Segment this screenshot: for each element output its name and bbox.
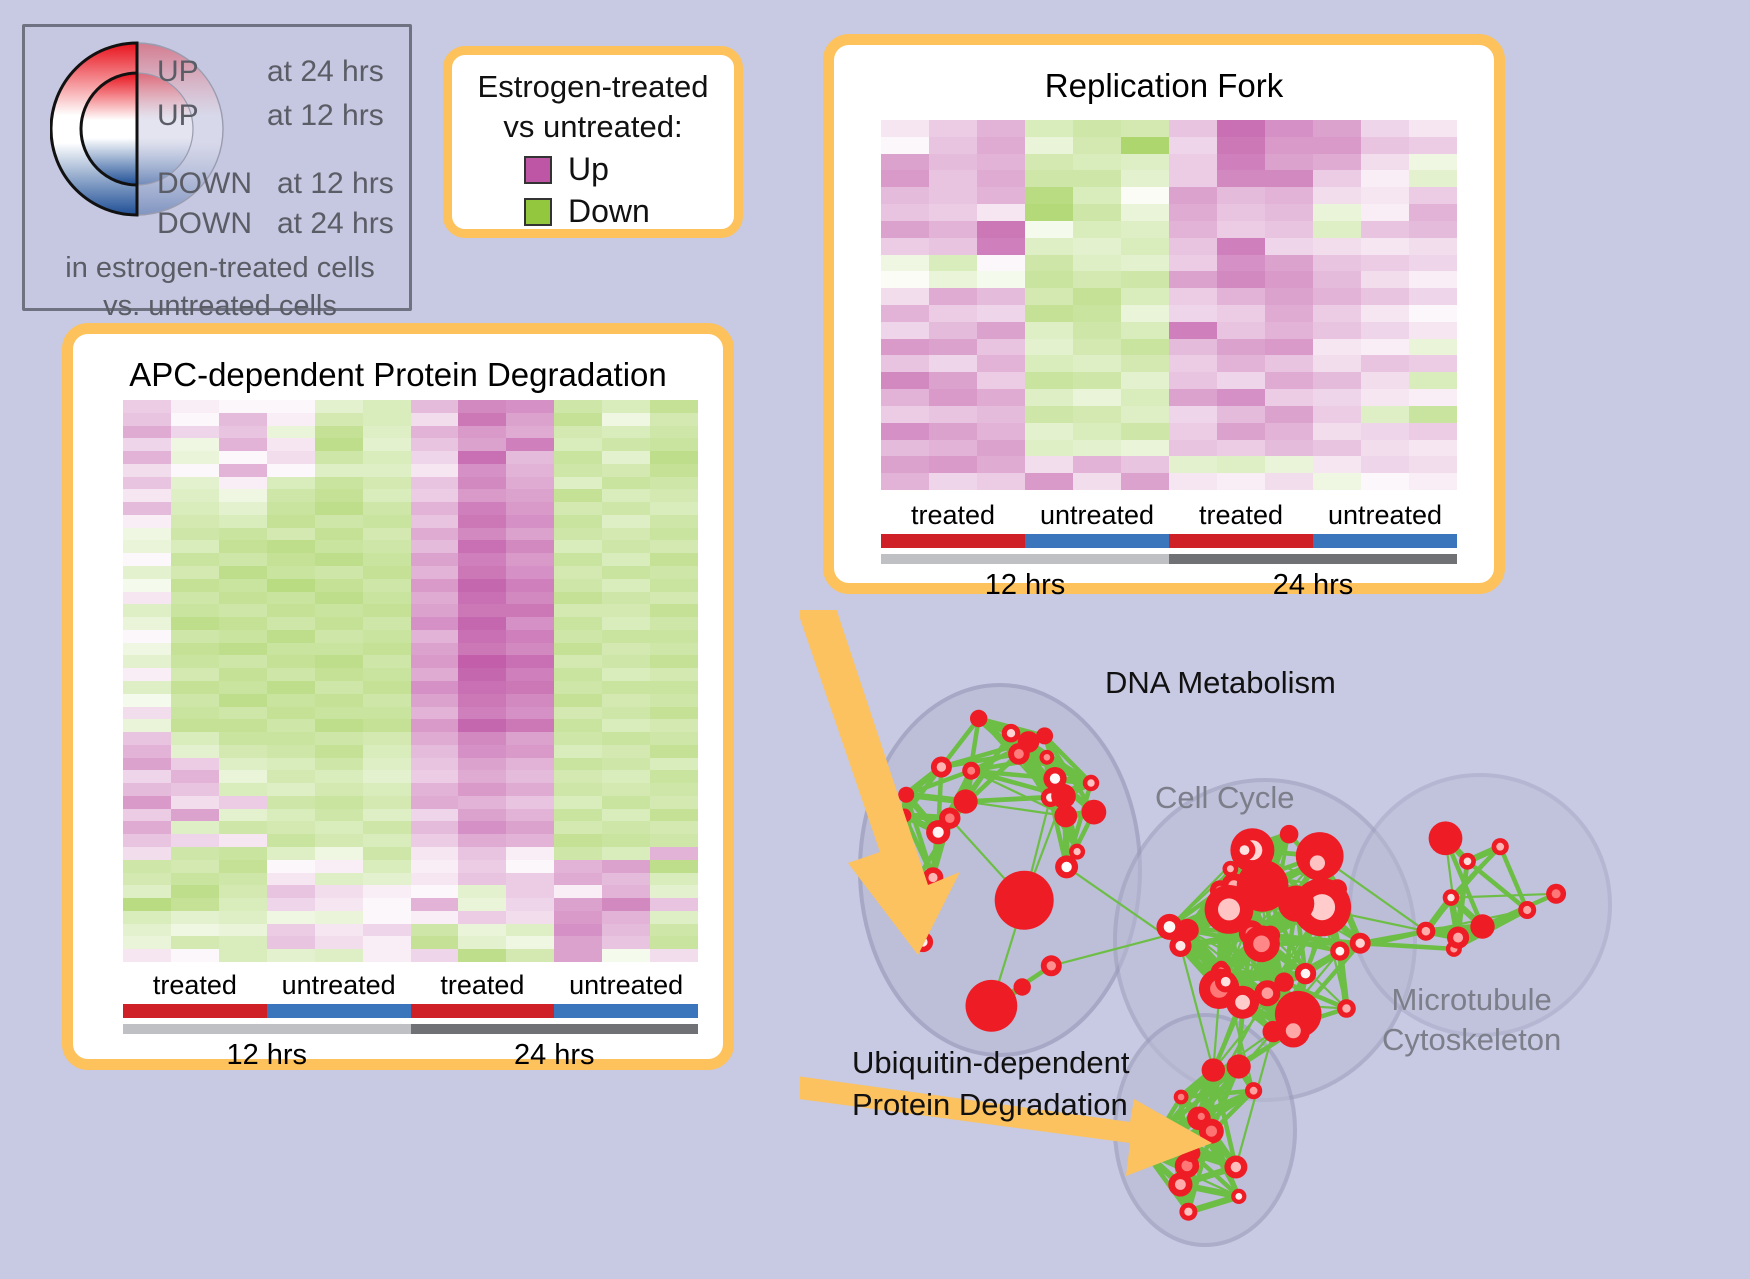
heatmap-cell [363, 528, 411, 541]
heatmap-cell [1121, 271, 1169, 288]
network-node[interactable] [1176, 919, 1199, 942]
heatmap-cell [1217, 389, 1265, 406]
sample-group-label: treated [123, 970, 267, 1001]
heatmap-cell [219, 834, 267, 847]
heatmap-cell [977, 372, 1025, 389]
heatmap-cell [123, 949, 171, 962]
heatmap-cell [1073, 406, 1121, 423]
network-node[interactable] [1008, 743, 1030, 765]
heatmap-cell [1409, 238, 1457, 255]
heatmap-cell [1313, 255, 1361, 272]
estrogen-legend-title-line1: Estrogen-treated [452, 67, 734, 107]
heatmap-cell [267, 477, 315, 490]
replication-fork-time-bar [881, 554, 1457, 564]
heatmap-cell [1409, 339, 1457, 356]
heatmap-cell [1409, 440, 1457, 457]
heatmap-cell [1313, 456, 1361, 473]
network-node[interactable] [1459, 853, 1476, 870]
heatmap-cell [506, 438, 554, 451]
apc-time-bar [123, 1024, 698, 1034]
heatmap-cell [1265, 238, 1313, 255]
heatmap-cell [363, 592, 411, 605]
replication-fork-time-labels: 12 hrs24 hrs [881, 569, 1457, 602]
heatmap-cell [1217, 204, 1265, 221]
heatmap-cell [171, 464, 219, 477]
heatmap-cell [267, 707, 315, 720]
heatmap-cell [1265, 221, 1313, 238]
heatmap-cell [1313, 137, 1361, 154]
heatmap-cell [1169, 423, 1217, 440]
network-node[interactable] [995, 871, 1054, 930]
heatmap-cell [171, 707, 219, 720]
heatmap-cell [881, 137, 929, 154]
heatmap-cell [363, 451, 411, 464]
heatmap-cell [1073, 170, 1121, 187]
estrogen-legend-box: Estrogen-treated vs untreated: Up Down [443, 46, 743, 238]
heatmap-cell [411, 860, 459, 873]
network-node[interactable] [1300, 846, 1334, 880]
heatmap-cell [650, 643, 698, 656]
time-bar-segment [1169, 554, 1457, 564]
heatmap-cell [219, 873, 267, 886]
heatmap-cell [602, 655, 650, 668]
heatmap-cell [363, 847, 411, 860]
heatmap-cell [411, 438, 459, 451]
heatmap-cell [171, 655, 219, 668]
network-node[interactable] [1215, 971, 1236, 992]
heatmap-cell [315, 898, 363, 911]
network-node[interactable] [1168, 1172, 1192, 1196]
heatmap-cell [363, 770, 411, 783]
heatmap-cell [1217, 238, 1265, 255]
network-node[interactable] [966, 980, 1018, 1032]
heatmap-cell [554, 924, 602, 937]
heatmap-cell [929, 372, 977, 389]
heatmap-cell [123, 655, 171, 668]
condition-bar-segment [411, 1004, 555, 1018]
heatmap-cell [1313, 423, 1361, 440]
heatmap-cell [171, 694, 219, 707]
heatmap-cell [506, 821, 554, 834]
network-node[interactable] [1043, 767, 1066, 790]
heatmap-cell [929, 170, 977, 187]
heatmap-cell [171, 911, 219, 924]
heatmap-cell [411, 821, 459, 834]
heatmap-cell [315, 630, 363, 643]
heatmap-cell [219, 540, 267, 553]
heatmap-cell [554, 540, 602, 553]
heatmap-cell [1313, 204, 1361, 221]
network-node[interactable] [962, 762, 980, 780]
heatmap-cell [315, 540, 363, 553]
heatmap-cell [554, 758, 602, 771]
heatmap-cell [650, 770, 698, 783]
heatmap-cell [1169, 187, 1217, 204]
network-node[interactable] [1202, 1058, 1225, 1081]
network-node[interactable] [1470, 914, 1494, 938]
heatmap-cell [881, 238, 929, 255]
heatmap-cell [171, 553, 219, 566]
sample-group-label: untreated [554, 970, 698, 1001]
heatmap-cell [267, 924, 315, 937]
heatmap-cell [315, 643, 363, 656]
network-node[interactable] [1280, 825, 1299, 844]
heatmap-cell [1409, 406, 1457, 423]
heatmap-cell [1121, 170, 1169, 187]
heatmap-cell [977, 137, 1025, 154]
heatmap-cell [554, 553, 602, 566]
heatmap-cell [171, 719, 219, 732]
heatmap-cell [458, 592, 506, 605]
network-node[interactable] [1546, 884, 1566, 904]
figure-root: UP at 24 hrs UP at 12 hrs DOWN at 12 hrs… [0, 0, 1750, 1279]
network-node[interactable] [1040, 750, 1055, 765]
heatmap-cell [506, 617, 554, 630]
network-node[interactable] [1254, 980, 1280, 1006]
heatmap-cell [977, 339, 1025, 356]
heatmap-cell [1025, 170, 1073, 187]
heatmap-cell [1361, 305, 1409, 322]
network-node[interactable] [1447, 927, 1469, 949]
heatmap-cell [123, 604, 171, 617]
heatmap-cell [554, 643, 602, 656]
heatmap-cell [881, 372, 929, 389]
heatmap-cell [1409, 137, 1457, 154]
heatmap-cell [1025, 423, 1073, 440]
network-node[interactable] [1041, 955, 1062, 976]
heatmap-cell [1169, 238, 1217, 255]
heatmap-cell [458, 528, 506, 541]
heatmap-cell [1361, 204, 1409, 221]
heatmap-cell [506, 643, 554, 656]
sample-group-label: treated [881, 500, 1025, 531]
heatmap-cell [650, 579, 698, 592]
sample-group-label: untreated [267, 970, 411, 1001]
network-node[interactable] [1205, 885, 1254, 934]
heatmap-cell [602, 821, 650, 834]
heatmap-cell [123, 758, 171, 771]
network-node[interactable] [1492, 838, 1509, 855]
heatmap-cell [123, 898, 171, 911]
heatmap-cell [363, 630, 411, 643]
heatmap-cell [554, 630, 602, 643]
network-node[interactable] [1174, 1090, 1189, 1105]
heatmap-cell [363, 732, 411, 745]
heatmap-cell [1217, 339, 1265, 356]
heatmap-cell [554, 885, 602, 898]
down-label: Down [568, 193, 650, 230]
heatmap-cell [1313, 238, 1361, 255]
heatmap-cell [1025, 288, 1073, 305]
network-node[interactable] [1278, 886, 1314, 922]
heatmap-cell [881, 456, 929, 473]
heatmap-cell [977, 170, 1025, 187]
heatmap-cell [411, 553, 459, 566]
network-node[interactable] [1330, 941, 1349, 960]
heatmap-cell [1313, 440, 1361, 457]
heatmap-cell [881, 271, 929, 288]
heatmap-cell [123, 924, 171, 937]
heatmap-cell [977, 120, 1025, 137]
heatmap-cell [506, 809, 554, 822]
heatmap-cell [929, 322, 977, 339]
heatmap-cell [1409, 255, 1457, 272]
heatmap-cell [977, 440, 1025, 457]
heatmap-cell [363, 477, 411, 490]
heatmap-cell [1217, 440, 1265, 457]
heatmap-cell [602, 694, 650, 707]
heatmap-cell [315, 515, 363, 528]
heatmap-cell [123, 681, 171, 694]
heatmap-cell [411, 643, 459, 656]
heatmap-cell [506, 783, 554, 796]
heatmap-cell [602, 707, 650, 720]
heatmap-cell [458, 668, 506, 681]
heatmap-cell [1361, 456, 1409, 473]
heatmap-cell [171, 451, 219, 464]
heatmap-cell [315, 502, 363, 515]
heatmap-cell [1217, 137, 1265, 154]
heatmap-cell [650, 566, 698, 579]
heatmap-cell [602, 643, 650, 656]
network-node[interactable] [1518, 901, 1536, 919]
heatmap-cell [458, 898, 506, 911]
network-node[interactable] [1263, 1021, 1284, 1042]
heatmap-cell [1025, 473, 1073, 490]
heatmap-cell [315, 528, 363, 541]
heatmap-cell [554, 579, 602, 592]
network-node[interactable] [898, 787, 914, 803]
heatmap-cell [506, 630, 554, 643]
heatmap-cell [458, 617, 506, 630]
heatmap-cell [1361, 355, 1409, 372]
heatmap-cell [1169, 355, 1217, 372]
heatmap-cell [363, 566, 411, 579]
network-node[interactable] [1014, 978, 1031, 995]
network-node[interactable] [1054, 805, 1077, 828]
heatmap-cell [1121, 255, 1169, 272]
heatmap-cell [411, 732, 459, 745]
heatmap-cell [554, 745, 602, 758]
heatmap-cell [363, 745, 411, 758]
network-node[interactable] [1416, 922, 1435, 941]
heatmap-cell [881, 170, 929, 187]
network-node[interactable] [1234, 839, 1256, 861]
heatmap-cell [315, 885, 363, 898]
heatmap-cell [1313, 288, 1361, 305]
heatmap-cell [363, 707, 411, 720]
network-node[interactable] [1002, 724, 1021, 743]
heatmap-cell [411, 949, 459, 962]
heatmap-cell [219, 681, 267, 694]
heatmap-cell [267, 770, 315, 783]
heatmap-cell [1361, 440, 1409, 457]
heatmap-cell [1025, 440, 1073, 457]
heatmap-cell [458, 464, 506, 477]
heatmap-cell [123, 630, 171, 643]
network-node[interactable] [1350, 933, 1371, 954]
heatmap-cell [1073, 187, 1121, 204]
heatmap-cell [881, 120, 929, 137]
network-node[interactable] [1443, 889, 1460, 906]
heatmap-cell [363, 758, 411, 771]
heatmap-cell [458, 438, 506, 451]
heatmap-cell [458, 719, 506, 732]
heatmap-cell [506, 553, 554, 566]
sample-group-label: treated [411, 970, 555, 1001]
heatmap-cell [219, 668, 267, 681]
heatmap-cell [1409, 288, 1457, 305]
network-node[interactable] [1227, 1054, 1251, 1078]
key-footer-line2: vs. untreated cells [25, 287, 415, 325]
heatmap-cell [315, 924, 363, 937]
heatmap-cell [602, 847, 650, 860]
heatmap-cell [1265, 204, 1313, 221]
heatmap-cell [602, 796, 650, 809]
heatmap-cell [1121, 154, 1169, 171]
heatmap-cell [1217, 456, 1265, 473]
heatmap-cell [219, 732, 267, 745]
heatmap-cell [267, 604, 315, 617]
heatmap-cell [363, 540, 411, 553]
heatmap-cell [506, 707, 554, 720]
heatmap-cell [1025, 372, 1073, 389]
network-node[interactable] [1429, 821, 1463, 855]
heatmap-cell [1073, 271, 1121, 288]
heatmap-cell [1409, 221, 1457, 238]
heatmap-cell [411, 770, 459, 783]
heatmap-cell [123, 477, 171, 490]
heatmap-cell [1361, 423, 1409, 440]
heatmap-cell [602, 438, 650, 451]
heatmap-cell [219, 566, 267, 579]
heatmap-cell [554, 477, 602, 490]
heatmap-cell [1217, 170, 1265, 187]
heatmap-cell [650, 898, 698, 911]
heatmap-cell [171, 566, 219, 579]
heatmap-cell [315, 413, 363, 426]
heatmap-cell [1121, 187, 1169, 204]
heatmap-cell [929, 423, 977, 440]
network-node[interactable] [1231, 1189, 1246, 1204]
heatmap-cell [411, 566, 459, 579]
heatmap-cell [219, 796, 267, 809]
heatmap-cell [554, 592, 602, 605]
heatmap-cell [363, 898, 411, 911]
heatmap-cell [602, 860, 650, 873]
heatmap-cell [363, 655, 411, 668]
heatmap-cell [458, 400, 506, 413]
network-node[interactable] [931, 757, 952, 778]
heatmap-cell [219, 847, 267, 860]
heatmap-cell [506, 540, 554, 553]
heatmap-cell [219, 515, 267, 528]
heatmap-cell [602, 528, 650, 541]
heatmap-cell [1121, 355, 1169, 372]
heatmap-cell [123, 413, 171, 426]
heatmap-cell [363, 936, 411, 949]
heatmap-cell [458, 911, 506, 924]
heatmap-cell [363, 553, 411, 566]
heatmap-cell [458, 809, 506, 822]
heatmap-cell [1217, 355, 1265, 372]
heatmap-cell [171, 489, 219, 502]
heatmap-cell [602, 885, 650, 898]
heatmap-cell [650, 847, 698, 860]
network-node[interactable] [1224, 1156, 1247, 1179]
heatmap-cell [1073, 440, 1121, 457]
heatmap-cell [650, 630, 698, 643]
network-node[interactable] [1295, 963, 1316, 984]
heatmap-cell [1121, 473, 1169, 490]
heatmap-cell [650, 617, 698, 630]
heatmap-cell [171, 515, 219, 528]
condition-bar-segment [1313, 534, 1457, 548]
heatmap-cell [123, 451, 171, 464]
heatmap-cell [458, 847, 506, 860]
heatmap-cell [1361, 389, 1409, 406]
heatmap-cell [315, 911, 363, 924]
heatmap-cell [1361, 154, 1409, 171]
heatmap-cell [171, 885, 219, 898]
heatmap-cell [602, 758, 650, 771]
network-node[interactable] [970, 710, 987, 727]
network-node[interactable] [1179, 1203, 1197, 1221]
heatmap-cell [315, 438, 363, 451]
heatmap-cell [602, 540, 650, 553]
heatmap-cell [411, 809, 459, 822]
heatmap-cell [1121, 238, 1169, 255]
heatmap-cell [219, 924, 267, 937]
network-node[interactable] [1082, 800, 1107, 825]
heatmap-cell [219, 707, 267, 720]
replication-fork-sample-labels: treateduntreatedtreateduntreated [881, 500, 1457, 531]
network-node[interactable] [1337, 999, 1356, 1018]
heatmap-cell [363, 668, 411, 681]
replication-fork-title: Replication Fork [834, 67, 1494, 105]
network-node[interactable] [1243, 925, 1280, 962]
heatmap-cell [1361, 372, 1409, 389]
apc-heatmap [123, 400, 698, 962]
heatmap-cell [458, 694, 506, 707]
heatmap-cell [171, 477, 219, 490]
heatmap-cell [458, 924, 506, 937]
heatmap-cell [1313, 473, 1361, 490]
heatmap-cell [650, 694, 698, 707]
heatmap-cell [977, 154, 1025, 171]
heatmap-cell [458, 885, 506, 898]
heatmap-cell [977, 221, 1025, 238]
heatmap-cell [929, 238, 977, 255]
network-node[interactable] [1083, 775, 1099, 791]
network-node[interactable] [954, 789, 978, 813]
heatmap-cell [602, 630, 650, 643]
heatmap-cell [602, 592, 650, 605]
heatmap-cell [881, 473, 929, 490]
heatmap-cell [315, 426, 363, 439]
heatmap-cell [315, 847, 363, 860]
heatmap-cell [554, 911, 602, 924]
network-node[interactable] [1245, 1082, 1262, 1099]
network-node[interactable] [1055, 855, 1078, 878]
heatmap-cell [267, 451, 315, 464]
sample-group-label: untreated [1313, 500, 1457, 531]
heatmap-cell [171, 949, 219, 962]
heatmap-cell [506, 770, 554, 783]
network-node[interactable] [939, 808, 960, 829]
heatmap-cell [315, 783, 363, 796]
replication-fork-condition-bar [881, 534, 1457, 548]
